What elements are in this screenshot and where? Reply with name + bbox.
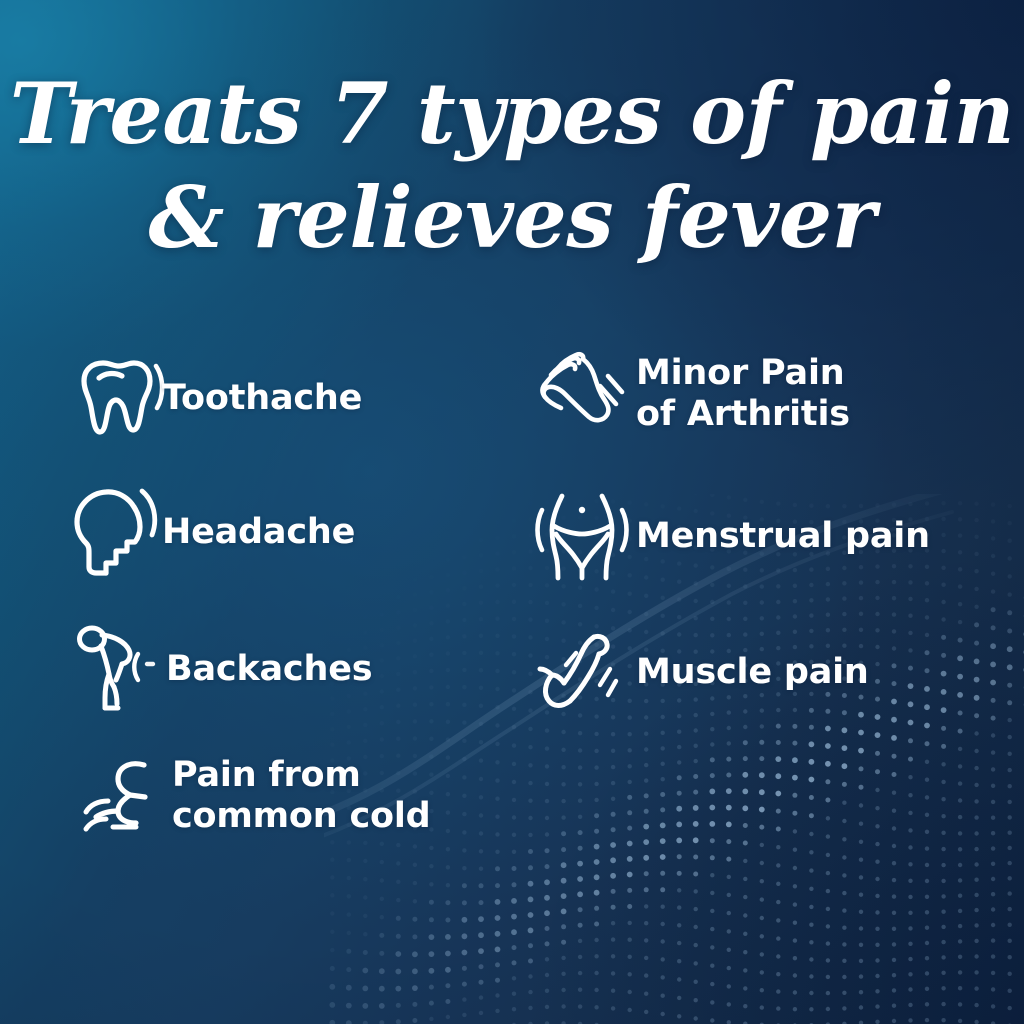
benefit-label-common-cold: Pain from common cold <box>172 755 431 837</box>
sneezing-head-icon <box>82 754 172 838</box>
tooth-icon <box>72 356 162 440</box>
benefit-item-toothache: Toothache <box>72 356 362 440</box>
headline-line-2: & relieves fever <box>0 166 1024 270</box>
flexed-arm-icon <box>536 630 636 714</box>
benefit-label-menstrual: Menstrual pain <box>636 516 930 557</box>
benefit-label-muscle: Muscle pain <box>636 652 869 693</box>
person-bending-back-icon <box>76 627 166 711</box>
benefit-label-toothache: Toothache <box>162 378 362 419</box>
benefit-item-backaches: Backaches <box>76 627 372 711</box>
lower-torso-icon <box>532 494 636 578</box>
benefit-label-backaches: Backaches <box>166 649 372 690</box>
hands-icon <box>536 352 636 436</box>
benefit-item-headache: Headache <box>72 490 355 574</box>
benefit-item-common-cold: Pain from common cold <box>82 754 431 838</box>
headline-line-1: Treats 7 types of pain <box>0 62 1024 166</box>
benefit-item-arthritis: Minor Pain of Arthritis <box>536 352 850 436</box>
promo-banner: Treats 7 types of pain & relieves fever <box>0 0 1024 1024</box>
benefit-label-arthritis: Minor Pain of Arthritis <box>636 353 850 435</box>
headline: Treats 7 types of pain & relieves fever <box>0 62 1024 270</box>
benefits-grid: Toothache Headache <box>0 352 1024 872</box>
benefit-item-muscle: Muscle pain <box>536 630 869 714</box>
benefit-label-headache: Headache <box>162 512 355 553</box>
benefit-item-menstrual: Menstrual pain <box>532 494 930 578</box>
head-profile-icon <box>72 490 162 574</box>
